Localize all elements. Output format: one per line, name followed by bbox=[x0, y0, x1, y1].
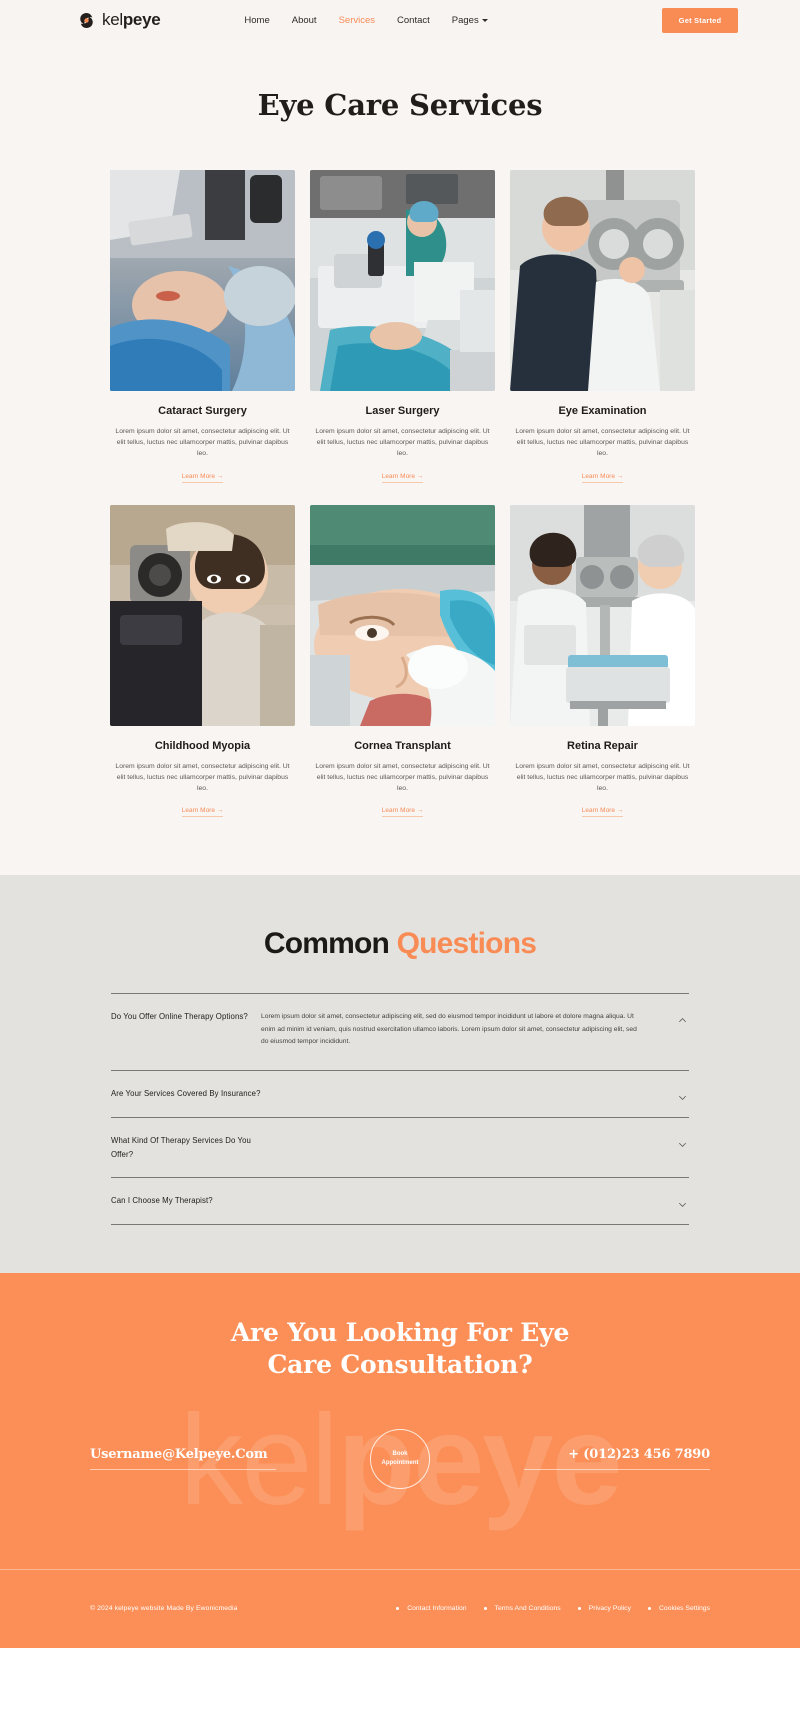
service-card-desc: Lorem ipsum dolor sit amet, consectetur … bbox=[510, 426, 695, 460]
footer-link-label: Cookies Settings bbox=[659, 1605, 710, 1612]
cataract-surgery-photo bbox=[110, 170, 295, 391]
bullet-icon bbox=[648, 1607, 651, 1610]
copyright-text: © 2024 kelpeye website Made By Ewonicmed… bbox=[90, 1605, 238, 1612]
footer-link-cookies-settings[interactable]: Cookies Settings bbox=[648, 1605, 710, 1612]
faq-list: Do You Offer Online Therapy Options? Lor… bbox=[111, 993, 689, 1225]
email-link[interactable]: Username@Kelpeye.Com bbox=[90, 1447, 276, 1470]
chevron-down-icon[interactable] bbox=[678, 1200, 687, 1209]
learn-more-link[interactable]: Learn More → bbox=[582, 473, 624, 483]
service-card-title: Laser Surgery bbox=[310, 405, 495, 417]
cta-heading-line1: Are You Looking For Eye bbox=[0, 1317, 800, 1349]
kelpeye-logo-icon bbox=[78, 12, 95, 29]
book-appointment-line2: Appointment bbox=[382, 1459, 419, 1468]
footer-inner: © 2024 kelpeye website Made By Ewonicmed… bbox=[90, 1605, 710, 1612]
service-card-desc: Lorem ipsum dolor sit amet, consectetur … bbox=[310, 426, 495, 460]
footer-link-contact-information[interactable]: Contact Information bbox=[396, 1605, 466, 1612]
faq-section: Common Questions Do You Offer Online The… bbox=[0, 875, 800, 1273]
learn-more-link[interactable]: Learn More → bbox=[382, 473, 424, 483]
nav-item-pages-label: Pages bbox=[452, 15, 479, 26]
logo[interactable]: kelpeye bbox=[78, 10, 160, 30]
service-card-title: Cataract Surgery bbox=[110, 405, 295, 417]
nav-item-pages[interactable]: Pages bbox=[452, 15, 488, 26]
service-card-desc: Lorem ipsum dolor sit amet, consectetur … bbox=[310, 761, 495, 795]
faq-title-primary: Common bbox=[264, 927, 397, 960]
service-card-desc: Lorem ipsum dolor sit amet, consectetur … bbox=[510, 761, 695, 795]
faq-item[interactable]: Are Your Services Covered By Insurance? bbox=[111, 1070, 689, 1117]
faq-title-accent: Questions bbox=[397, 927, 537, 960]
nav-item-contact[interactable]: Contact bbox=[397, 15, 430, 26]
nav-item-services[interactable]: Services bbox=[339, 15, 375, 26]
faq-question: What Kind Of Therapy Services Do You Off… bbox=[111, 1134, 261, 1161]
cornea-transplant-photo bbox=[310, 505, 495, 726]
eye-examination-photo bbox=[510, 170, 695, 391]
laser-surgery-photo bbox=[310, 170, 495, 391]
faq-question: Do You Offer Online Therapy Options? bbox=[111, 1010, 261, 1024]
site-header: kelpeye Home About Services Contact Page… bbox=[0, 0, 800, 40]
cta-section: kelpeye Are You Looking For Eye Care Con… bbox=[0, 1273, 800, 1569]
book-appointment-button[interactable]: Book Appointment bbox=[370, 1429, 430, 1489]
services-grid: Cataract Surgery Lorem ipsum dolor sit a… bbox=[110, 170, 690, 817]
service-card-title: Eye Examination bbox=[510, 405, 695, 417]
bullet-icon bbox=[484, 1607, 487, 1610]
footer-link-label: Privacy Policy bbox=[589, 1605, 631, 1612]
cta-heading: Are You Looking For Eye Care Consultatio… bbox=[0, 1317, 800, 1381]
chevron-down-icon[interactable] bbox=[678, 1093, 687, 1102]
main-nav: Home About Services Contact Pages bbox=[244, 15, 487, 26]
footer-link-label: Contact Information bbox=[407, 1605, 466, 1612]
bullet-icon bbox=[578, 1607, 581, 1610]
childhood-myopia-photo bbox=[110, 505, 295, 726]
nav-item-home[interactable]: Home bbox=[244, 15, 269, 26]
logo-text-bold: peye bbox=[123, 10, 161, 29]
faq-item[interactable]: Can I Choose My Therapist? bbox=[111, 1177, 689, 1225]
service-card-desc: Lorem ipsum dolor sit amet, consectetur … bbox=[110, 426, 295, 460]
faq-title: Common Questions bbox=[0, 927, 800, 961]
site-footer: © 2024 kelpeye website Made By Ewonicmed… bbox=[0, 1569, 800, 1648]
service-card-laser-surgery[interactable]: Laser Surgery Lorem ipsum dolor sit amet… bbox=[310, 170, 495, 483]
page-root: kelpeye Home About Services Contact Page… bbox=[0, 0, 800, 1648]
service-card-title: Retina Repair bbox=[510, 740, 695, 752]
services-section: Eye Care Services bbox=[0, 40, 800, 875]
service-card-retina-repair[interactable]: Retina Repair Lorem ipsum dolor sit amet… bbox=[510, 505, 695, 818]
get-started-button[interactable]: Get Started bbox=[662, 8, 738, 33]
service-card-title: Childhood Myopia bbox=[110, 740, 295, 752]
cta-heading-line2: Care Consultation? bbox=[0, 1349, 800, 1381]
service-card-cataract-surgery[interactable]: Cataract Surgery Lorem ipsum dolor sit a… bbox=[110, 170, 295, 483]
phone-link[interactable]: + (012)23 456 7890 bbox=[524, 1447, 710, 1470]
service-card-childhood-myopia[interactable]: Childhood Myopia Lorem ipsum dolor sit a… bbox=[110, 505, 295, 818]
service-card-eye-examination[interactable]: Eye Examination Lorem ipsum dolor sit am… bbox=[510, 170, 695, 483]
footer-link-terms-and-conditions[interactable]: Terms And Conditions bbox=[484, 1605, 561, 1612]
footer-link-privacy-policy[interactable]: Privacy Policy bbox=[578, 1605, 631, 1612]
bullet-icon bbox=[396, 1607, 399, 1610]
footer-links: Contact Information Terms And Conditions… bbox=[396, 1605, 710, 1612]
service-card-cornea-transplant[interactable]: Cornea Transplant Lorem ipsum dolor sit … bbox=[310, 505, 495, 818]
nav-item-about[interactable]: About bbox=[292, 15, 317, 26]
footer-link-label: Terms And Conditions bbox=[495, 1605, 561, 1612]
faq-answer: Lorem ipsum dolor sit amet, consectetur … bbox=[261, 1010, 689, 1048]
retina-repair-photo bbox=[510, 505, 695, 726]
faq-question: Are Your Services Covered By Insurance? bbox=[111, 1087, 261, 1101]
learn-more-link[interactable]: Learn More → bbox=[182, 807, 224, 817]
chevron-down-icon bbox=[482, 19, 488, 22]
logo-text: kelpeye bbox=[102, 10, 160, 30]
logo-text-light: kel bbox=[102, 10, 123, 29]
faq-item[interactable]: What Kind Of Therapy Services Do You Off… bbox=[111, 1117, 689, 1177]
learn-more-link[interactable]: Learn More → bbox=[582, 807, 624, 817]
page-title: Eye Care Services bbox=[0, 88, 800, 122]
service-card-desc: Lorem ipsum dolor sit amet, consectetur … bbox=[110, 761, 295, 795]
service-card-title: Cornea Transplant bbox=[310, 740, 495, 752]
faq-item[interactable]: Do You Offer Online Therapy Options? Lor… bbox=[111, 993, 689, 1070]
chevron-up-icon[interactable] bbox=[678, 1016, 687, 1025]
learn-more-link[interactable]: Learn More → bbox=[382, 807, 424, 817]
faq-question: Can I Choose My Therapist? bbox=[111, 1194, 261, 1208]
cta-contact-row: Username@Kelpeye.Com Book Appointment + … bbox=[90, 1429, 710, 1489]
learn-more-link[interactable]: Learn More → bbox=[182, 473, 224, 483]
chevron-down-icon[interactable] bbox=[678, 1140, 687, 1149]
book-appointment-line1: Book bbox=[393, 1450, 408, 1459]
